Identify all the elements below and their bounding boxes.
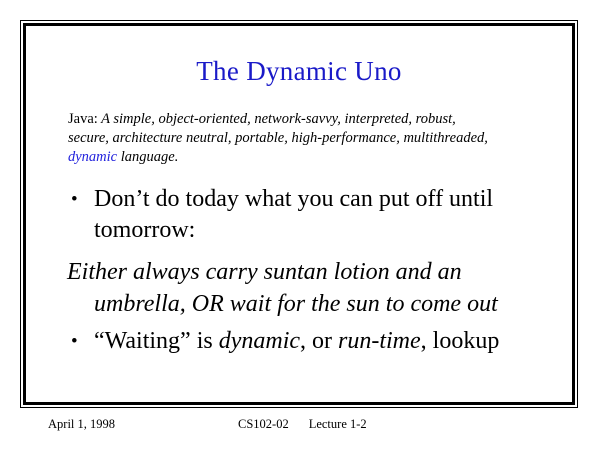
bullet-item-label: Don’t do today what you can put off unti… bbox=[94, 184, 546, 246]
slide-footer: April 1, 1998 CS102-02Lecture 1-2 bbox=[20, 412, 578, 436]
italic-aside-line-1: Either always carry suntan lotion and an bbox=[67, 259, 462, 285]
bullet-item-procrastinate: • Don’t do today what you can put off un… bbox=[26, 184, 572, 246]
java-definition-lead: Java: bbox=[68, 111, 98, 127]
slide-content-region: The Dynamic Uno Java: A simple, object-o… bbox=[26, 26, 572, 402]
bullet-item-label: “Waiting” is dynamic, or run-time, looku… bbox=[94, 326, 546, 357]
waiting-text-middle: , or bbox=[300, 328, 338, 354]
footer-date: April 1, 1998 bbox=[48, 414, 115, 434]
java-definition-line-3-suffix: language. bbox=[117, 149, 178, 165]
italic-aside-paragraph: Either always carry suntan lotion and an… bbox=[26, 256, 572, 320]
waiting-text-prefix: “Waiting” is bbox=[94, 328, 219, 354]
page-title: The Dynamic Uno bbox=[26, 56, 572, 86]
java-definition-line-2: secure, architecture neutral, portable, … bbox=[68, 130, 400, 146]
slide-outer-border: The Dynamic Uno Java: A simple, object-o… bbox=[20, 20, 578, 408]
waiting-text-suffix: , lookup bbox=[421, 328, 500, 354]
java-definition-paragraph: Java: A simple, object-oriented, network… bbox=[68, 110, 498, 167]
footer-lecture-label: Lecture 1-2 bbox=[309, 417, 367, 431]
footer-course-block: CS102-02Lecture 1-2 bbox=[238, 414, 367, 434]
bullet-item-waiting: • “Waiting” is dynamic, or run-time, loo… bbox=[26, 326, 572, 357]
slide-body-content: • Don’t do today what you can put off un… bbox=[26, 184, 572, 361]
java-definition-line-1: A simple, object-oriented, network-savvy… bbox=[98, 111, 456, 127]
footer-course-code: CS102-02 bbox=[238, 417, 289, 431]
italic-aside-line-2: umbrella, OR wait for the sun to come ou… bbox=[67, 288, 552, 320]
java-definition-line-3-prefix: multithreaded, bbox=[403, 130, 487, 146]
emphasis-dynamic: dynamic bbox=[219, 328, 300, 354]
keyword-dynamic-highlight: dynamic bbox=[68, 149, 117, 165]
slide-inner-border: The Dynamic Uno Java: A simple, object-o… bbox=[23, 23, 575, 405]
emphasis-run-time: run-time bbox=[338, 328, 421, 354]
bullet-dot-icon: • bbox=[71, 184, 78, 215]
bullet-dot-icon: • bbox=[71, 326, 78, 357]
